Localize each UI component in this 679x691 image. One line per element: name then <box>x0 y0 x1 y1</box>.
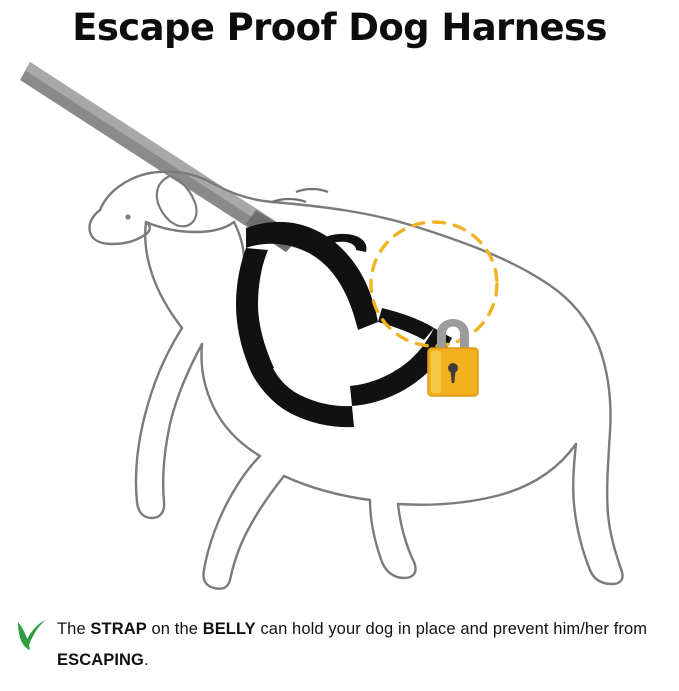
caption-fragment: on the <box>147 620 203 638</box>
caption-block: The STRAP on the BELLY can hold your dog… <box>0 608 679 688</box>
black-harness-straps <box>236 222 452 427</box>
leash-icon <box>20 62 300 252</box>
caption-fragment: The <box>57 620 90 638</box>
green-check-icon <box>14 618 48 652</box>
page-title: Escape Proof Dog Harness <box>0 6 679 49</box>
caption-fragment: . <box>144 651 149 669</box>
caption-fragment: can hold your dog in place and prevent h… <box>256 620 647 638</box>
product-feature-graphic: Escape Proof Dog Harness <box>0 0 679 691</box>
caption-emphasis: STRAP <box>90 620 146 638</box>
caption-emphasis: ESCAPING <box>57 651 144 669</box>
dog-harness-illustration <box>0 52 679 597</box>
caption-text: The STRAP on the BELLY can hold your dog… <box>57 614 669 676</box>
caption-emphasis: BELLY <box>203 620 256 638</box>
dog-eye <box>125 214 130 219</box>
dog-outline <box>89 172 622 589</box>
harness-gray-accents <box>272 189 328 202</box>
yellow-dashed-circle <box>371 222 497 346</box>
